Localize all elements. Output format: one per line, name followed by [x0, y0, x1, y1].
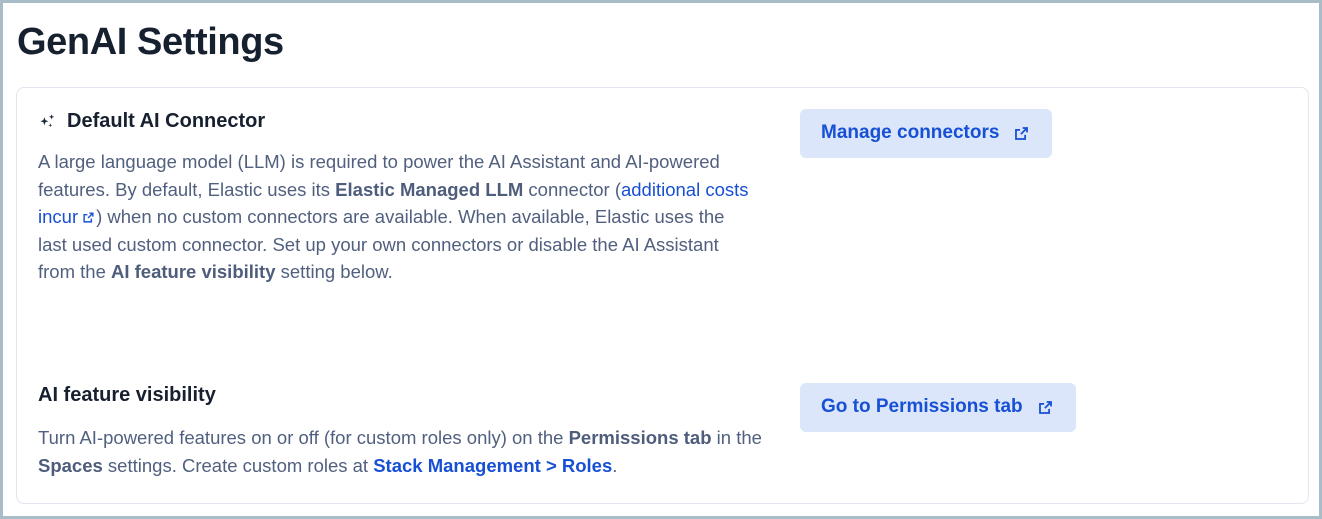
ai-feature-visibility-heading-label: AI feature visibility — [38, 383, 216, 407]
manage-connectors-button-label: Manage connectors — [821, 123, 999, 144]
visibility-part-3: settings. Create custom roles at — [103, 455, 373, 476]
genai-settings-screen: GenAI Settings Default AI Connector A la… — [0, 0, 1322, 519]
settings-panel: Default AI Connector A large language mo… — [16, 87, 1309, 504]
default-ai-connector-section: Default AI Connector A large language mo… — [17, 109, 1308, 286]
visibility-bold-permissions-tab: Permissions tab — [569, 427, 712, 448]
external-link-icon — [1012, 124, 1031, 143]
visibility-part-2: in the — [712, 427, 762, 448]
ai-feature-visibility-actions: Go to Permissions tab — [762, 383, 1308, 432]
description-part-2: connector ( — [523, 179, 621, 200]
ai-feature-visibility-heading: AI feature visibility — [38, 383, 762, 407]
stack-management-roles-link[interactable]: Stack Management > Roles — [373, 455, 612, 476]
description-bold-ai-feature-visibility: AI feature visibility — [111, 261, 276, 282]
default-ai-connector-content: Default AI Connector A large language mo… — [17, 109, 762, 286]
description-bold-elastic-managed-llm: Elastic Managed LLM — [335, 179, 523, 200]
description-part-4: setting below. — [276, 261, 393, 282]
visibility-part-1: Turn AI-powered features on or off (for … — [38, 427, 569, 448]
sparkles-icon — [38, 112, 58, 132]
default-ai-connector-heading: Default AI Connector — [38, 109, 762, 133]
default-ai-connector-heading-label: Default AI Connector — [67, 109, 265, 133]
page-header: GenAI Settings — [3, 3, 1319, 81]
visibility-part-4: . — [612, 455, 617, 476]
page-title: GenAI Settings — [17, 23, 284, 61]
stack-management-roles-link-label: Stack Management > Roles — [373, 455, 612, 476]
ai-feature-visibility-section: AI feature visibility Turn AI-powered fe… — [17, 383, 1308, 479]
ai-feature-visibility-content: AI feature visibility Turn AI-powered fe… — [17, 383, 762, 479]
go-to-permissions-tab-button[interactable]: Go to Permissions tab — [800, 383, 1076, 432]
go-to-permissions-tab-button-label: Go to Permissions tab — [821, 397, 1023, 418]
ai-feature-visibility-description: Turn AI-powered features on or off (for … — [38, 424, 762, 479]
external-link-icon — [81, 205, 96, 220]
default-ai-connector-actions: Manage connectors — [762, 109, 1308, 158]
manage-connectors-button[interactable]: Manage connectors — [800, 109, 1052, 158]
default-ai-connector-description: A large language model (LLM) is required… — [38, 148, 750, 286]
visibility-bold-spaces: Spaces — [38, 455, 103, 476]
external-link-icon — [1036, 398, 1055, 417]
